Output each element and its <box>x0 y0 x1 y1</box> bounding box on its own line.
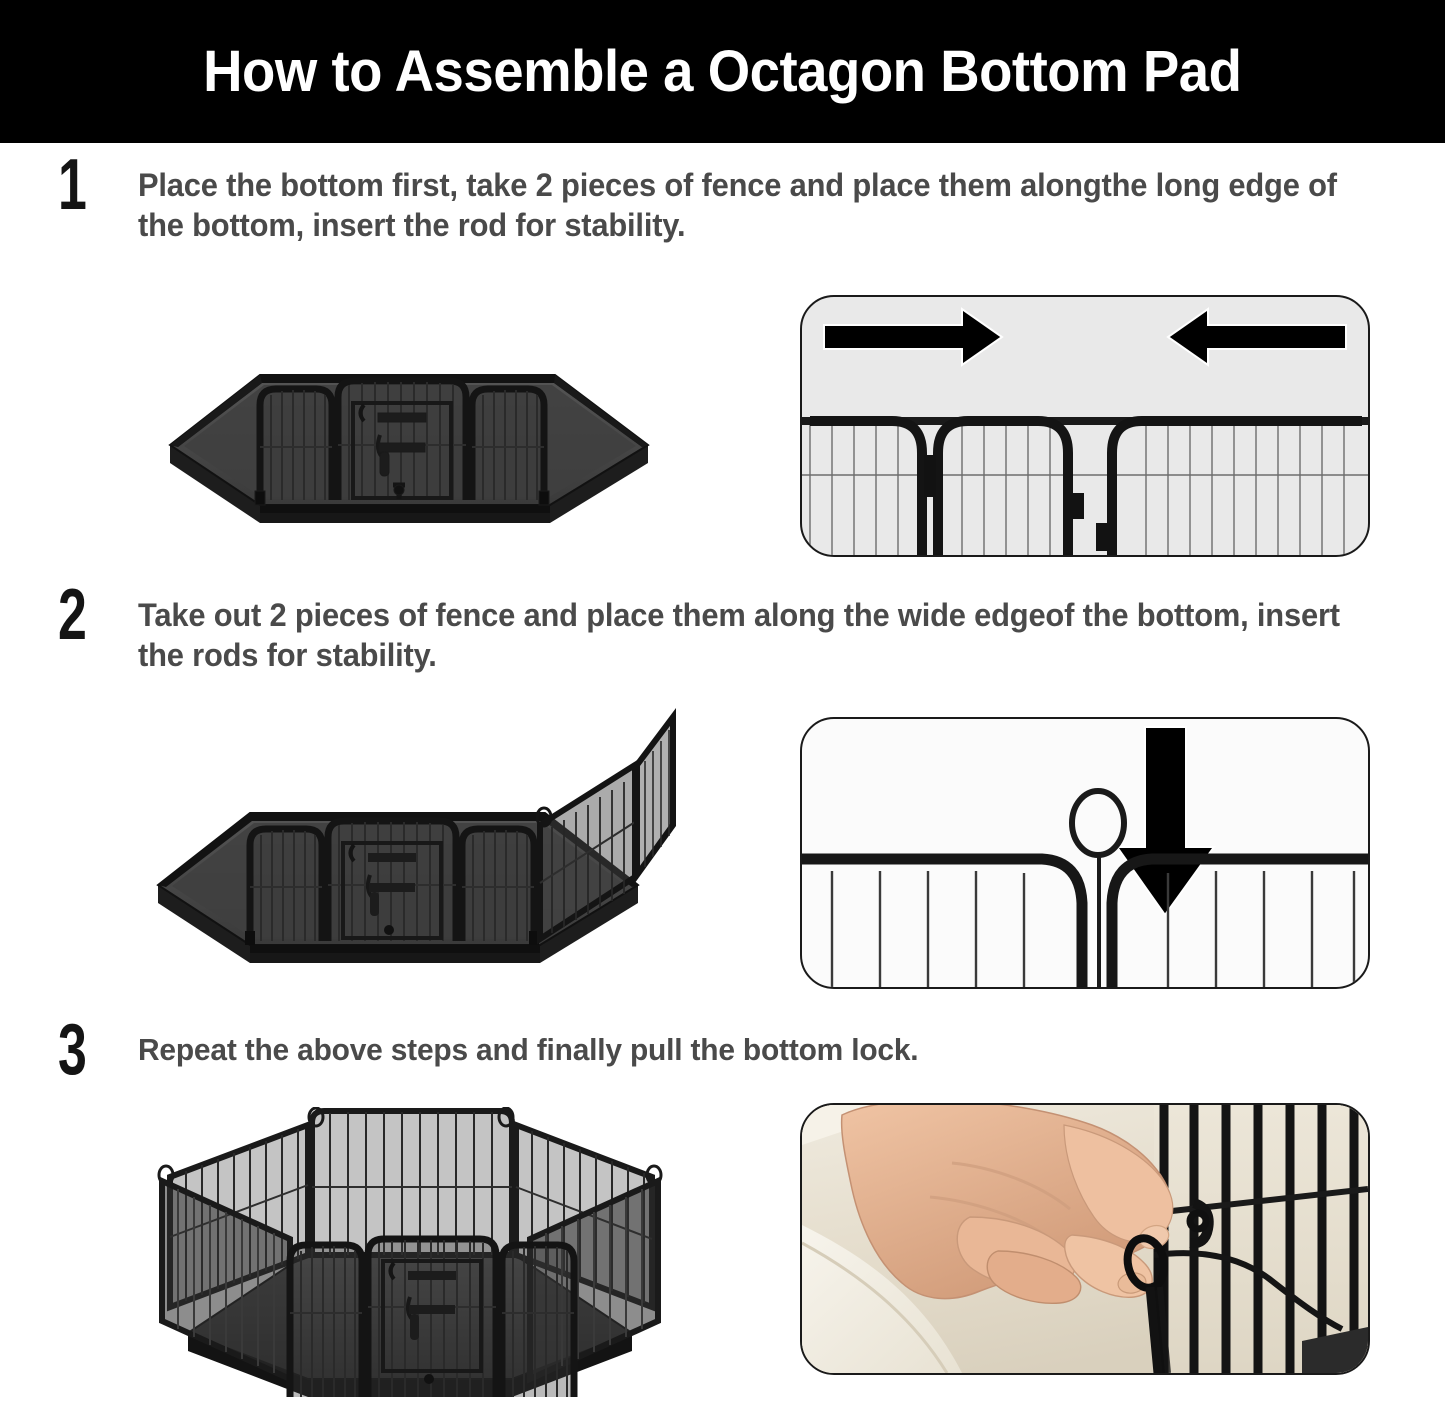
fence-panel-front-gate <box>368 1239 496 1397</box>
fence-panel-gate <box>328 821 456 941</box>
octagon-pad-four-panels-svg <box>140 705 680 980</box>
fence-panel-3 <box>462 829 539 945</box>
step-1-text: Place the bottom first, take 2 pieces of… <box>138 165 1354 245</box>
bottom-lock-icon <box>424 1374 434 1384</box>
octagon-pad-two-panels-svg <box>150 285 670 550</box>
connector-tab-1 <box>924 455 936 497</box>
hand-pulling-lock-photo-svg <box>802 1105 1368 1373</box>
step-1-number: 1 <box>58 149 87 221</box>
fence-panels-front <box>290 1239 574 1397</box>
fence-post-right <box>1112 421 1362 555</box>
fence-panel-left <box>255 389 332 505</box>
step-2-figures <box>0 705 1445 1005</box>
step-3-illustration <box>140 1107 680 1407</box>
fence-panel-left <box>802 859 1082 987</box>
arrow-right-icon <box>824 309 1002 365</box>
step-1-figures <box>0 285 1445 565</box>
page-title: How to Assemble a Octagon Bottom Pad <box>203 38 1241 105</box>
header-bar: How to Assemble a Octagon Bottom Pad <box>0 0 1445 143</box>
fence-panels-group <box>255 381 549 505</box>
fence-panel-front-left <box>290 1245 362 1397</box>
fence-post-left <box>810 421 922 555</box>
step-2-illustration <box>140 705 680 980</box>
fence-panel-back-center <box>312 1111 512 1255</box>
step-2-number: 2 <box>58 579 87 651</box>
fence-post-middle <box>938 421 1068 555</box>
arrow-left-icon <box>1168 309 1346 365</box>
fence-panel-1 <box>245 829 322 945</box>
connector-tab-3 <box>1096 523 1110 551</box>
fence-panel-gate <box>338 381 466 500</box>
fence-joining-detail-svg <box>802 297 1368 555</box>
step-3-text: Repeat the above steps and finally pull … <box>138 1030 1354 1070</box>
fence-panel-front-right <box>502 1245 574 1397</box>
step-2-text: Take out 2 pieces of fence and place the… <box>138 595 1354 675</box>
step-2-detail-panel <box>800 717 1370 989</box>
step-3-detail-panel <box>800 1103 1370 1375</box>
fence-mesh <box>802 425 1368 555</box>
step-3-number: 3 <box>58 1014 87 1086</box>
completed-octagon-playpen-svg <box>140 1107 680 1407</box>
instruction-sheet: How to Assemble a Octagon Bottom Pad 1 P… <box>0 0 1445 1411</box>
fence-panel-right <box>472 389 549 505</box>
step-1-detail-panel <box>800 295 1370 557</box>
step-1-illustration <box>150 285 670 550</box>
fence-panel-wide-edge-2 <box>637 717 673 875</box>
connector-tab-2 <box>1070 493 1084 519</box>
rod-insertion-detail-svg <box>802 719 1368 987</box>
step-3-figures <box>0 1085 1445 1405</box>
arrow-down-icon <box>1117 727 1214 915</box>
